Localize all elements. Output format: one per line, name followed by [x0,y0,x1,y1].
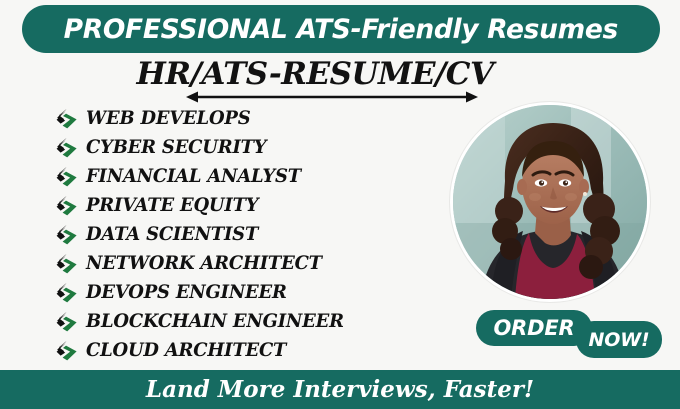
list-item: CLOUD ARCHITECT [56,336,456,365]
list-item: CYBER SECURITY [56,133,456,162]
list-item: BLOCKCHAIN ENGINEER [56,307,456,336]
double-chevron-icon [56,166,82,188]
service-label: DEVOPS ENGINEER [86,282,287,303]
header-banner: PROFESSIONAL ATS-Friendly Resumes [22,5,660,53]
service-label: PRIVATE EQUITY [86,195,258,216]
service-label: WEB DEVELOPS [86,108,250,129]
double-chevron-icon [56,282,82,304]
double-chevron-icon [56,195,82,217]
list-item: DATA SCIENTIST [56,220,456,249]
double-chevron-icon [56,137,82,159]
services-list: WEB DEVELOPS CYBER SECURITY [56,104,456,365]
now-button-label: NOW! [589,329,650,351]
list-item: PRIVATE EQUITY [56,191,456,220]
order-button[interactable]: ORDER [476,310,592,346]
double-chevron-icon [56,108,82,130]
service-label: CYBER SECURITY [86,137,266,158]
service-label: NETWORK ARCHITECT [86,253,322,274]
service-label: FINANCIAL ANALYST [86,166,301,187]
header-banner-text: PROFESSIONAL ATS-Friendly Resumes [64,14,618,45]
gig-thumbnail-canvas: PROFESSIONAL ATS-Friendly Resumes HR/ATS… [0,0,680,409]
list-item: FINANCIAL ANALYST [56,162,456,191]
double-chevron-icon [56,340,82,362]
double-headed-arrow-icon [186,90,478,104]
portrait-photo-icon [450,102,650,302]
list-item: NETWORK ARCHITECT [56,249,456,278]
double-chevron-icon [56,224,82,246]
footer-tagline: Land More Interviews, Faster! [146,376,534,403]
list-item: WEB DEVELOPS [56,104,456,133]
service-label: CLOUD ARCHITECT [86,340,286,361]
double-chevron-icon [56,253,82,275]
page-title: HR/ATS-RESUME/CV [0,56,630,92]
list-item: DEVOPS ENGINEER [56,278,456,307]
order-button-label: ORDER [494,316,575,340]
service-label: DATA SCIENTIST [86,224,258,245]
service-label: BLOCKCHAIN ENGINEER [86,311,344,332]
double-chevron-icon [56,311,82,333]
footer-banner: Land More Interviews, Faster! [0,370,680,409]
